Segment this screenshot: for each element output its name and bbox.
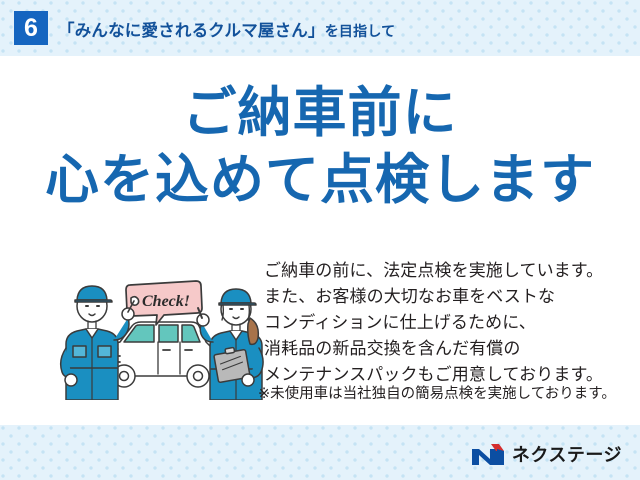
nextage-n-mark-icon — [471, 442, 505, 467]
body-line-4: 消耗品の新品交換を含んだ有償の — [264, 336, 624, 362]
body-copy: ご納車の前に、法定点検を実施しています。 また、お客様の大切なお車をベストな コ… — [264, 258, 624, 388]
headline: ご納車前に 心を込めて点検します — [0, 82, 640, 211]
section-number-badge: 6 — [14, 11, 48, 45]
mechanics-illustration: Check! — [58, 268, 268, 400]
header-title-quoted: 「みんなに愛されるクルマ屋さん」 — [58, 22, 325, 40]
body-line-2: また、お客様の大切なお車をベストな — [264, 284, 624, 310]
header-title-suffix: を目指して — [325, 23, 396, 39]
body-line-1: ご納車の前に、法定点検を実施しています。 — [264, 258, 624, 284]
brand-logo: ネクステージ — [471, 442, 622, 467]
headline-line-2: 心を込めて点検します — [0, 149, 640, 212]
header-title: 「みんなに愛されるクルマ屋さん」を目指して — [58, 17, 395, 41]
headline-line-1: ご納車前に — [0, 82, 640, 145]
body-line-3: コンディションに仕上げるために、 — [264, 310, 624, 336]
brand-name: ネクステージ — [512, 446, 622, 464]
advertisement-page: 6 「みんなに愛されるクルマ屋さん」を目指して ご納車前に 心を込めて点検します — [0, 0, 640, 480]
disclaimer-note: ※未使用車は当社独自の簡易点検を実施しております。 — [258, 384, 630, 404]
check-bubble-text: Check! — [142, 293, 190, 310]
